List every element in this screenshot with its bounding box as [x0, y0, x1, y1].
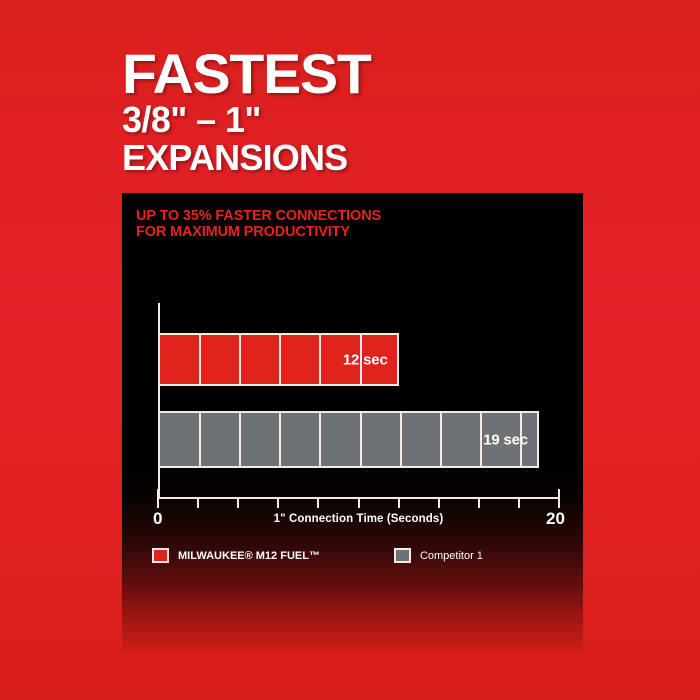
headline: FASTEST 3/8" – 1" EXPANSIONS: [122, 48, 592, 177]
headline-line-1: FASTEST: [122, 48, 601, 100]
bar-segment-divider: [239, 413, 241, 466]
bar-milwaukee-value: 12 sec: [343, 351, 388, 368]
bar-milwaukee: 12 sec: [158, 333, 399, 386]
bar-segment-divider: [400, 413, 402, 466]
x-axis-tick: [518, 499, 520, 508]
x-axis-tick: [277, 499, 279, 508]
legend-label-competitor: Competitor 1: [420, 550, 483, 562]
bar-segment-divider: [480, 413, 482, 466]
legend-item-milwaukee: MILWAUKEE® M12 FUEL™: [152, 548, 320, 563]
bar-segment-divider: [440, 413, 442, 466]
x-axis-tick: [197, 499, 199, 508]
chart-panel: UP TO 35% FASTER CONNECTIONS FOR MAXIMUM…: [122, 193, 583, 651]
bar-segment-divider: [239, 335, 241, 384]
legend-label-milwaukee: MILWAUKEE® M12 FUEL™: [178, 550, 320, 562]
bar-segment-divider: [319, 335, 321, 384]
x-axis-tick: [358, 499, 360, 508]
bar-segment-divider: [360, 413, 362, 466]
x-axis-tick: [558, 489, 560, 508]
poster-root: FASTEST 3/8" – 1" EXPANSIONS UP TO 35% F…: [0, 0, 700, 700]
bar-segment-divider: [199, 335, 201, 384]
bar-segment-divider: [279, 335, 281, 384]
x-axis-tick: [157, 489, 159, 508]
legend-item-competitor: Competitor 1: [394, 548, 483, 563]
chart-legend: MILWAUKEE® M12 FUEL™ Competitor 1: [152, 548, 483, 563]
legend-swatch-milwaukee: [152, 548, 169, 563]
bar-segment-divider: [199, 413, 201, 466]
legend-swatch-competitor: [394, 548, 411, 563]
bar-competitor-value: 19 sec: [483, 431, 528, 448]
bar-competitor: 19 sec: [158, 411, 539, 468]
x-axis-tick: [317, 499, 319, 508]
x-axis-tick: [478, 499, 480, 508]
x-axis-tick: [237, 499, 239, 508]
x-axis-tick: [438, 499, 440, 508]
x-axis-tick: [398, 499, 400, 508]
x-axis-title: 1" Connection Time (Seconds): [158, 513, 559, 525]
bar-segment-divider: [279, 413, 281, 466]
headline-line-2: 3/8" – 1": [122, 102, 592, 139]
headline-line-3: EXPANSIONS: [122, 140, 592, 177]
plot-area: 12 sec 19 sec 0 20 1" Connection Time (S…: [122, 193, 583, 651]
bar-segment-divider: [319, 413, 321, 466]
